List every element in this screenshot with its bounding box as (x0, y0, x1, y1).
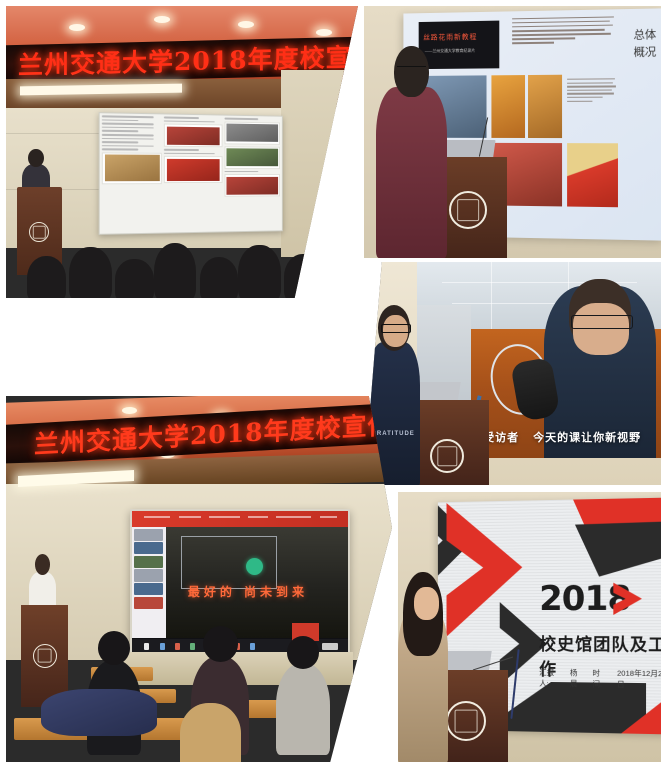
slide-video-subtitle: ——兰州交通大学教育纪录片 (424, 48, 474, 55)
glasses-icon (397, 66, 426, 74)
presenter-figure (376, 87, 447, 258)
panel-classroom-presentation: 兰州交通大学2018年度校宣传 最好的 尚未到来 (6, 396, 392, 762)
university-crest-icon (449, 191, 487, 229)
presenter-figure (398, 611, 448, 762)
date-label: 时间: (592, 668, 607, 690)
presenter-name: 杨晨 (570, 667, 583, 689)
backpack (41, 689, 157, 737)
glasses-icon (571, 315, 633, 329)
glasses-icon (381, 324, 411, 333)
video-caption-text: 最好的 尚未到来 (188, 583, 333, 600)
app-ribbon-bar (132, 511, 348, 527)
slide-meta: 汇报人: 杨晨 时间: 2018年12月21日 (539, 667, 661, 691)
slide-paragraph-top (512, 16, 617, 72)
slide-photo-poster (567, 143, 618, 208)
university-crest-icon (430, 439, 464, 473)
selection-box (181, 536, 277, 589)
panel-interview-screen: 题是由受访者 今天的课让你新视野 GRATITUDE (364, 262, 661, 485)
slide-photo-signer-1 (492, 75, 526, 138)
slide-thumbnail-panel (132, 527, 167, 638)
student-figure (180, 703, 242, 762)
projection-screen (99, 112, 283, 234)
chevron-bottom-red-icon (596, 686, 661, 735)
presenter-label: 汇报人: (539, 667, 561, 689)
video-preview-stage: 最好的 尚未到来 (166, 527, 348, 638)
photo-collage: 兰州交通大学2018年度校宣传 (0, 0, 667, 768)
downlight-icon (238, 21, 254, 28)
slide-section-label: 总体概况 (632, 27, 656, 61)
video-subtitle-right: 今天的课让你新视野 (533, 429, 641, 445)
panel-lecture-hall-wide: 兰州交通大学2018年度校宣传 (6, 6, 358, 298)
slide-video-title: 丝路花雨新教程 (423, 32, 477, 43)
university-crest-icon (33, 644, 57, 668)
slide-photo-signer-2 (528, 74, 562, 138)
chevron-year-icon (611, 581, 646, 618)
panel-male-speaker: 丝路花雨新教程 ——兰州交通大学教育纪录片 总体概况 (364, 6, 661, 258)
chevron-dark-corner-icon (575, 521, 661, 579)
student-figure (276, 663, 330, 755)
panel-title-slide: 2018 校史馆团队及工作 汇报人: 杨晨 时间: 2018年12月21日 (398, 492, 661, 762)
hoodie-brand-text: GRATITUDE (371, 431, 415, 437)
slide-paragraph-right (567, 78, 618, 133)
university-crest-icon (446, 701, 486, 741)
date-value: 2018年12月21日 (617, 668, 661, 691)
slide-video-thumbnail: 丝路花雨新教程 ——兰州交通大学教育纪录片 (418, 21, 499, 69)
side-wall (281, 70, 358, 257)
audience-group (6, 234, 358, 298)
downlight-icon (69, 24, 85, 31)
